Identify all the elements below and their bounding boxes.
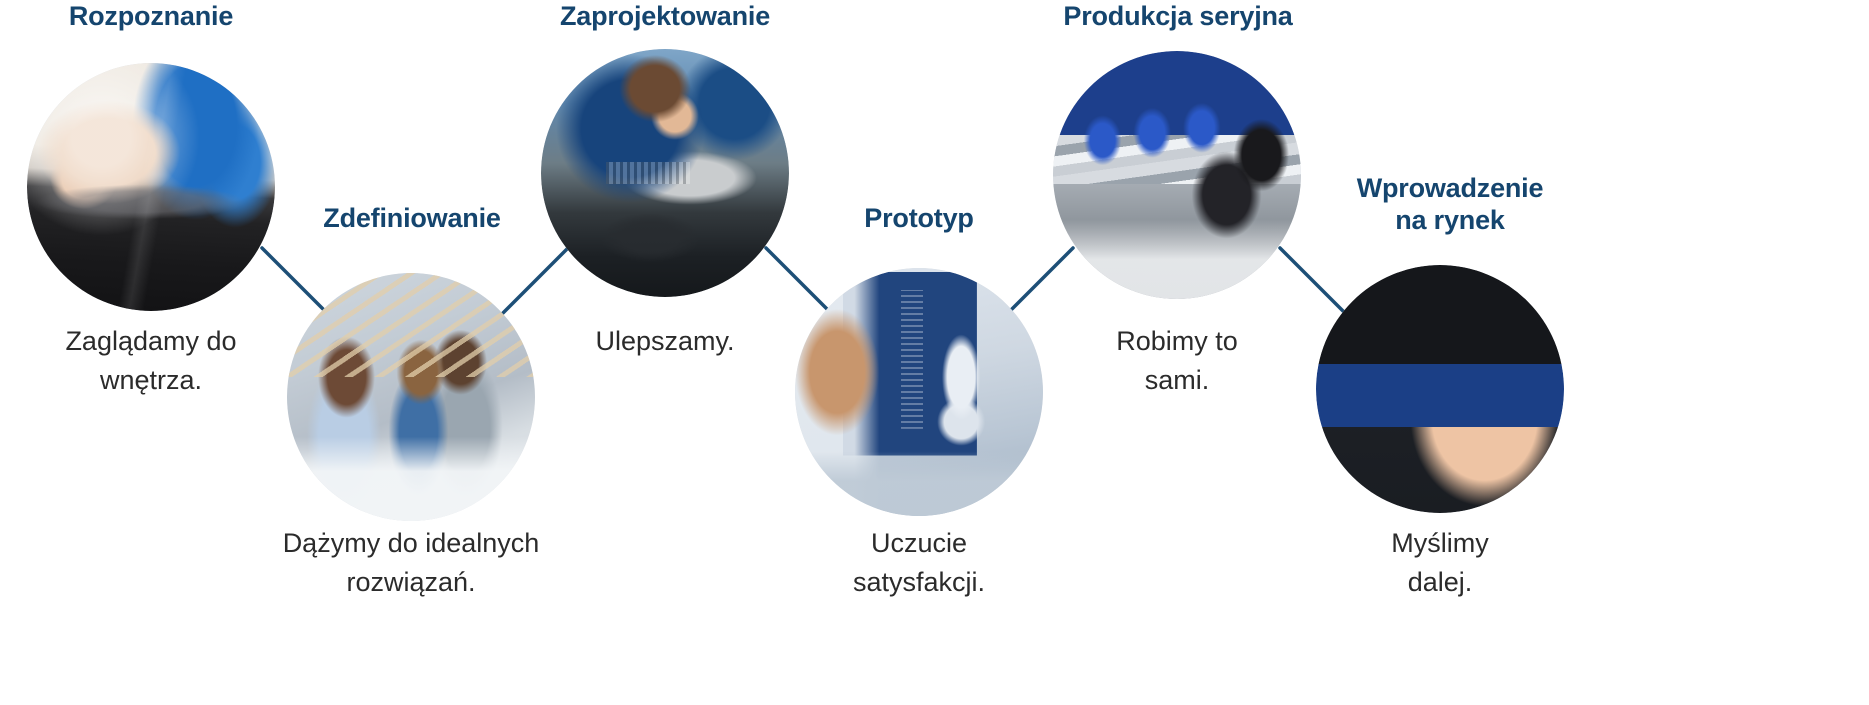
step-circle-4[interactable] bbox=[795, 268, 1043, 516]
step-circle-6[interactable] bbox=[1316, 265, 1564, 513]
step-caption-6: Myślimy dalej. bbox=[1320, 524, 1560, 602]
process-infographic: Rozpoznanie Zdefiniowanie Zaprojektowani… bbox=[0, 0, 1869, 705]
step-circle-5[interactable] bbox=[1053, 51, 1301, 299]
step-caption-3: Ulepszamy. bbox=[545, 322, 785, 361]
step-4-image bbox=[795, 268, 1043, 516]
step-heading-6: Wprowadzenie na rynek bbox=[1320, 172, 1580, 236]
step-heading-5: Produkcja seryjna bbox=[1049, 0, 1307, 32]
step-caption-2: Dążymy do idealnych rozwiązań. bbox=[251, 524, 571, 602]
step-caption-5: Robimy to sami. bbox=[1057, 322, 1297, 400]
step-circle-2[interactable] bbox=[287, 273, 535, 521]
step-heading-2: Zdefiniowanie bbox=[293, 202, 531, 234]
step-5-image bbox=[1053, 51, 1301, 299]
step-heading-3: Zaprojektowanie bbox=[545, 0, 785, 32]
step-heading-4: Prototyp bbox=[799, 202, 1039, 234]
step-caption-1: Zaglądamy do wnętrza. bbox=[31, 322, 271, 400]
step-6-image bbox=[1316, 265, 1564, 513]
step-1-image bbox=[27, 63, 275, 311]
step-2-image bbox=[287, 273, 535, 521]
step-heading-1: Rozpoznanie bbox=[31, 0, 271, 32]
step-circle-3[interactable] bbox=[541, 49, 789, 297]
step-3-image bbox=[541, 49, 789, 297]
step-circle-1[interactable] bbox=[27, 63, 275, 311]
step-caption-4: Uczucie satysfakcji. bbox=[799, 524, 1039, 602]
